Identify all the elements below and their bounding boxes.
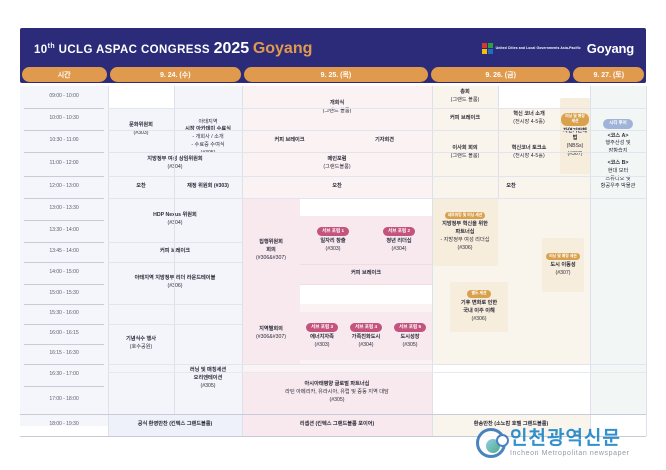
time-label: 10:30 - 11:00 [20,130,108,152]
session-venue: (그랜드볼룸) [323,164,350,172]
session-room: (#304) [168,164,183,172]
sub-forum-2-badge: 서브 포럼 2 [383,227,415,236]
session-title: 커피 브레이크 [274,137,304,145]
session-room: (#303) [326,246,341,254]
watermark-english: Incheon Metropolitan newspaper [510,450,630,457]
session-room: (#305) [330,397,345,405]
session-board-meeting[interactable]: 이사회 회의 (그랜드 볼룸) [432,130,498,176]
watermark-korean: 인천광역신문 [510,429,630,448]
session-title: 공식 환영만찬 (킨텍스 그랜드볼룸) [138,421,213,429]
session-title: 기념식수 행사 [126,336,156,344]
session-title: HDP Nexus 위원회 [153,212,197,220]
session-global-partnership[interactable]: 아시아태평양 글로벌 파트너십 라틴 아메리카, 유라시아, 유럽 및 중동 지… [242,372,432,414]
time-label: 16:30 - 17:00 [20,364,108,386]
banner-congress-name: UCLG ASPAC CONGRESS [59,44,210,56]
session-title-2: 파트너십 [455,229,474,237]
session-sub-forum-2[interactable]: 서브 포럼 2 청년 리더십 (#304) [366,216,432,264]
session-room: (#303) [315,342,330,350]
session-title: 혁신 코너 소개 [513,111,545,119]
session-venue: (그랜드 볼룸) [451,153,480,161]
session-press-conference[interactable]: 기자회견 [337,130,432,152]
session-title: 에너지자족 [310,334,334,342]
newspaper-logo-icon [476,428,506,458]
networking-learning-badge: 네트워킹 및 러닝 세션 [445,212,486,220]
session-title: 청년 리더십 [386,238,411,246]
session-title: 개회식 [330,100,344,108]
time-label: 09:00 - 10:00 [20,86,108,108]
time-label: 18:00 - 19:30 [20,414,108,436]
time-label: 10:00 - 10:30 [20,108,108,130]
watermark: 인천광역신문 Incheon Metropolitan newspaper [476,420,662,466]
uclg-squares-icon [482,43,493,54]
time-label: 12:00 - 13:00 [20,176,108,198]
session-room: (#304) [392,246,407,254]
day25-spacer [300,198,432,216]
session-networking-learning[interactable]: 네트워킹 및 러닝 세션 지방정부 혁신을 위한 파트너십 - 지방정부 여성 … [432,198,498,266]
session-room: (#307) [556,270,571,278]
banner-city: Goyang [253,40,313,57]
session-title: 기자회견 [375,137,394,145]
session-sub-forum-3[interactable]: 서브 포럼 3 에너지자족 (#303) [300,312,344,360]
session-title: 리셉션 (킨텍스 그랜드볼룸 포이어) [300,421,375,429]
session-tree-planting[interactable]: 기념식수 행사 (호수공원) [108,324,174,364]
goyang-logo: Goyang [587,41,634,56]
session-title: 집행위원회 [259,239,283,247]
session-room: (#304) [359,342,374,350]
session-coffee-break-day26[interactable]: 커피 브레이크 [432,108,498,130]
session-title: 지방정부 여성 상임위원회 [147,156,202,164]
session-room: (#306&#307) [256,255,286,263]
session-regional-meetings[interactable]: 지역별회의 (#306&#307) [242,304,300,364]
city-tour-badge: 시티 투어 [603,119,632,129]
session-innovation-corner-intro[interactable]: 혁신 코너 소개 (전시장 4-5홀) [498,108,560,130]
session-title: 일자리 창출 [320,238,345,246]
session-title: 지방정부 혁신을 위한 [442,221,488,229]
session-venue: (그랜드 볼룸) [323,108,352,116]
session-lunch-day25[interactable]: 오찬 [242,176,432,198]
session-room: (#305) [201,383,216,391]
logo-group: United Cities and Local Governments Asia… [482,41,634,56]
session-room: (#306) [472,316,487,324]
banner-ordinal: 10 [34,44,48,56]
session-general-assembly[interactable]: 총회 (그랜드 볼룸) [432,86,498,108]
session-title: 커피 브레이크 [351,270,381,278]
banner-ordinal-suffix: th [48,43,55,50]
session-lunch-day24[interactable]: 오찬 [108,176,174,198]
session-title-2: 오리엔테이션 [194,375,223,383]
course-b-label: <코스 B> [608,160,629,168]
session-title-2: 국내 이주 이해 [463,308,495,316]
sub-forum-1-badge: 서브 포럼 1 [317,227,349,236]
course-b-line1: 현대 모터 [608,168,629,176]
session-title: 아시아태평양 글로벌 파트너십 [305,381,370,389]
session-title: 재정 위원회 (#303) [187,183,229,191]
time-label: 13:45 - 14:00 [20,242,108,262]
day-header-sep25: 9. 25. (목) [244,67,428,82]
banner-year: 2025 [214,40,250,57]
learning-matching-badge-2: 러닝 및 매칭 세션 [546,253,580,260]
day-header-row: 시간 9. 24. (수) 9. 25. (목) 9. 26. (금) 9. 2… [20,66,646,83]
day-header-sep24: 9. 24. (수) [110,67,241,82]
time-label: 13:30 - 14:00 [20,220,108,242]
session-finance-committee[interactable]: 재정 위원회 (#303) [174,176,242,198]
course-b-line3: 항공우주 박물관 [601,183,636,191]
sub-forum-3-badge: 서브 포럼 3 [306,323,338,332]
session-title: 도시성장 [400,334,419,342]
session-title: 기후 변화로 인한 [461,300,497,308]
time-label: 11:00 - 12:00 [20,152,108,176]
day25-spacer-2 [300,284,432,304]
session-subtitle: - 지방정부 여성 리더십 [440,237,489,245]
day24-empty-0900 [108,86,174,108]
session-coffee-break-day25-pm[interactable]: 커피 브레이크 [300,264,432,284]
congress-schedule-page: 10th UCLG ASPAC CONGRESS 2025 Goyang Uni… [0,0,666,470]
session-leaders-roundtable[interactable]: 아태지역 지방정부 리더 라운드테이블 (#306) [108,262,242,304]
day-header-sep27: 9. 27. (토) [573,67,644,82]
session-room: (#303) [134,130,149,138]
session-innovation-talkshow[interactable]: 혁신코너 토크쇼 (전시장 4-5홀) [498,130,560,176]
session-welcome-dinner[interactable]: 공식 환영만찬 (킨텍스 그랜드볼룸) [108,414,242,436]
day-header-time: 시간 [22,67,107,82]
session-title: 문화위원회 [129,122,153,130]
session-title: 오찬 [136,183,146,191]
sub-forum-5-badge: 서브 포럼 5 [394,323,426,332]
session-venue: (전시장 4-5홀) [513,119,544,127]
uclg-logo-text: United Cities and Local Governments Asia… [496,46,581,50]
session-coffee-break-day25-am[interactable]: 커피 브레이크 [242,130,337,152]
session-title: 메인포럼 [327,156,346,164]
session-climate-migration[interactable]: 별도 세션 기후 변화로 인한 국내 이주 이해 (#306) [450,282,508,332]
separate-session-badge: 별도 세션 [467,290,490,298]
session-title: 총회 [460,89,470,97]
time-label: 15:30 - 16:00 [20,304,108,324]
session-title: 아태지역 지방정부 리더 라운드테이블 [135,275,216,283]
session-reception[interactable]: 리셉션 (킨텍스 그랜드볼룸 포이어) [242,414,432,436]
session-title-2: 회의 [266,247,276,255]
session-matching-orientation[interactable]: 러닝 및 매칭세션 오리엔테이션 (#305) [174,344,242,414]
session-room: (#305) [403,342,418,350]
session-subtitle: 라틴 아메리카, 유라시아, 유럽 및 중동 지역 대담 [285,389,389,397]
uclg-aspac-logo-icon: United Cities and Local Governments Asia… [482,43,581,54]
session-city-tour[interactable]: 시티 투어 <코스 A> 행주산성 및 장항습지 <코스 B> 현대 모터 스튜… [590,92,646,218]
session-title: 지역별회의 [259,326,283,334]
session-lunch-day26[interactable]: 오찬 [432,176,590,198]
session-title: 오찬 [332,183,342,191]
schedule-grid: 09:00 - 10:00 10:00 - 10:30 10:30 - 11:0… [20,86,646,426]
session-subtitle: (NBSs) [567,143,584,151]
day24-gap-1530 [108,304,242,324]
time-label: 13:00 - 13:30 [20,198,108,220]
session-sub-forum-1[interactable]: 서브 포럼 1 일자리 창출 (#303) [300,216,366,264]
session-executive-committee[interactable]: 집행위원회 회의 (#306&#307) [242,198,300,304]
course-a-line1: 행주산성 및 [605,140,630,148]
session-main-forum[interactable]: 메인포럼 (그랜드볼룸) [242,152,432,176]
day-header-sep26: 9. 26. (금) [431,67,570,82]
watermark-text: 인천광역신문 Incheon Metropolitan newspaper [510,429,630,457]
sub-forum-4-badge: 서브 포럼 4 [350,323,382,332]
session-sub-forum-4[interactable]: 서브 포럼 4 가족친화도시 (#304) [344,312,388,360]
session-sub-forum-5[interactable]: 서브 포럼 5 도시성장 (#305) [388,312,432,360]
session-title: 도시 이동성 [550,262,575,270]
session-nature-based-solutions[interactable]: 러닝 및 매칭 세션 자연기반해법 (NBSs) (#307) [560,98,590,174]
session-women-standing-committee[interactable]: 지방정부 여성 상임위원회 (#304) [108,152,242,176]
time-label: 17:00 - 18:00 [20,386,108,414]
session-room: (#306&#307) [256,334,286,342]
session-line: - 수료증 수여식 [191,142,224,150]
session-room: (#304) [168,220,183,228]
session-title: 가족친화도시 [352,334,381,342]
session-room: (#306) [458,245,473,253]
time-label: 16:00 - 16:15 [20,324,108,344]
session-venue: (호수공원) [130,344,153,352]
session-title: 커피 브레이크 [450,115,480,123]
session-title: 커피 브레이크 [160,248,190,256]
session-hdp-nexus-committee[interactable]: HDP Nexus 위원회 (#304) [108,198,242,242]
session-title: 오찬 [506,183,516,191]
session-urban-mobility[interactable]: 러닝 및 매칭 세션 도시 이동성 (#307) [542,238,584,292]
time-label: 15:00 - 15:30 [20,284,108,304]
session-room: (#306) [168,283,183,291]
session-coffee-break-day24[interactable]: 커피 브레이크 [108,242,242,262]
session-venue: (전시장 4-5홀) [513,153,544,161]
time-label: 16:15 - 16:30 [20,344,108,364]
learning-matching-badge: 러닝 및 매칭 세션 [561,113,589,125]
time-label: 14:00 - 15:00 [20,262,108,284]
session-venue: (그랜드 볼룸) [451,97,480,105]
session-line: - 개회사 / 소개 [192,134,223,142]
banner-title: 10th UCLG ASPAC CONGRESS 2025 Goyang [34,40,312,58]
